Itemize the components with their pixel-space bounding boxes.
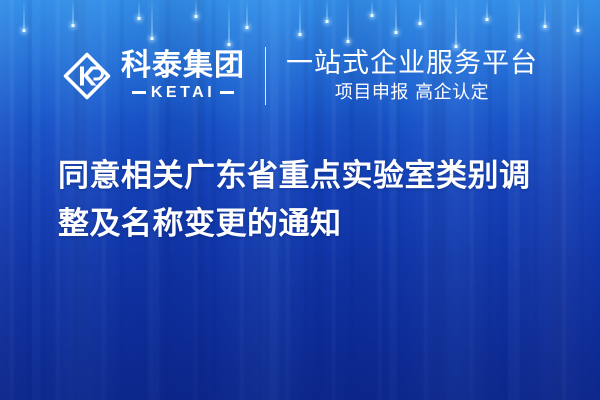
ketai-logo-icon xyxy=(62,51,112,101)
tagline-block: 一站式企业服务平台 项目申报 高企认定 xyxy=(286,49,538,104)
tagline-primary: 一站式企业服务平台 xyxy=(286,49,538,79)
banner-image: 科泰集团 KETAI 一站式企业服务平台 项目申报 高企认定 同意相关广东省重点… xyxy=(0,0,600,400)
brand-lockup: 科泰集团 KETAI xyxy=(62,50,245,101)
brand-name-en: KETAI xyxy=(151,84,215,102)
brand-rule-left xyxy=(132,91,146,94)
brand-rule-right xyxy=(220,91,234,94)
brand-divider xyxy=(265,47,266,105)
brand-name-en-row: KETAI xyxy=(132,84,234,102)
article-title: 同意相关广东省重点实验室类别调整及名称变更的通知 xyxy=(58,152,560,248)
brand-name-cn: 科泰集团 xyxy=(121,50,245,81)
brand-header: 科泰集团 KETAI 一站式企业服务平台 项目申报 高企认定 xyxy=(0,38,600,114)
tagline-secondary: 项目申报 高企认定 xyxy=(335,82,489,104)
brand-text: 科泰集团 KETAI xyxy=(121,50,245,101)
